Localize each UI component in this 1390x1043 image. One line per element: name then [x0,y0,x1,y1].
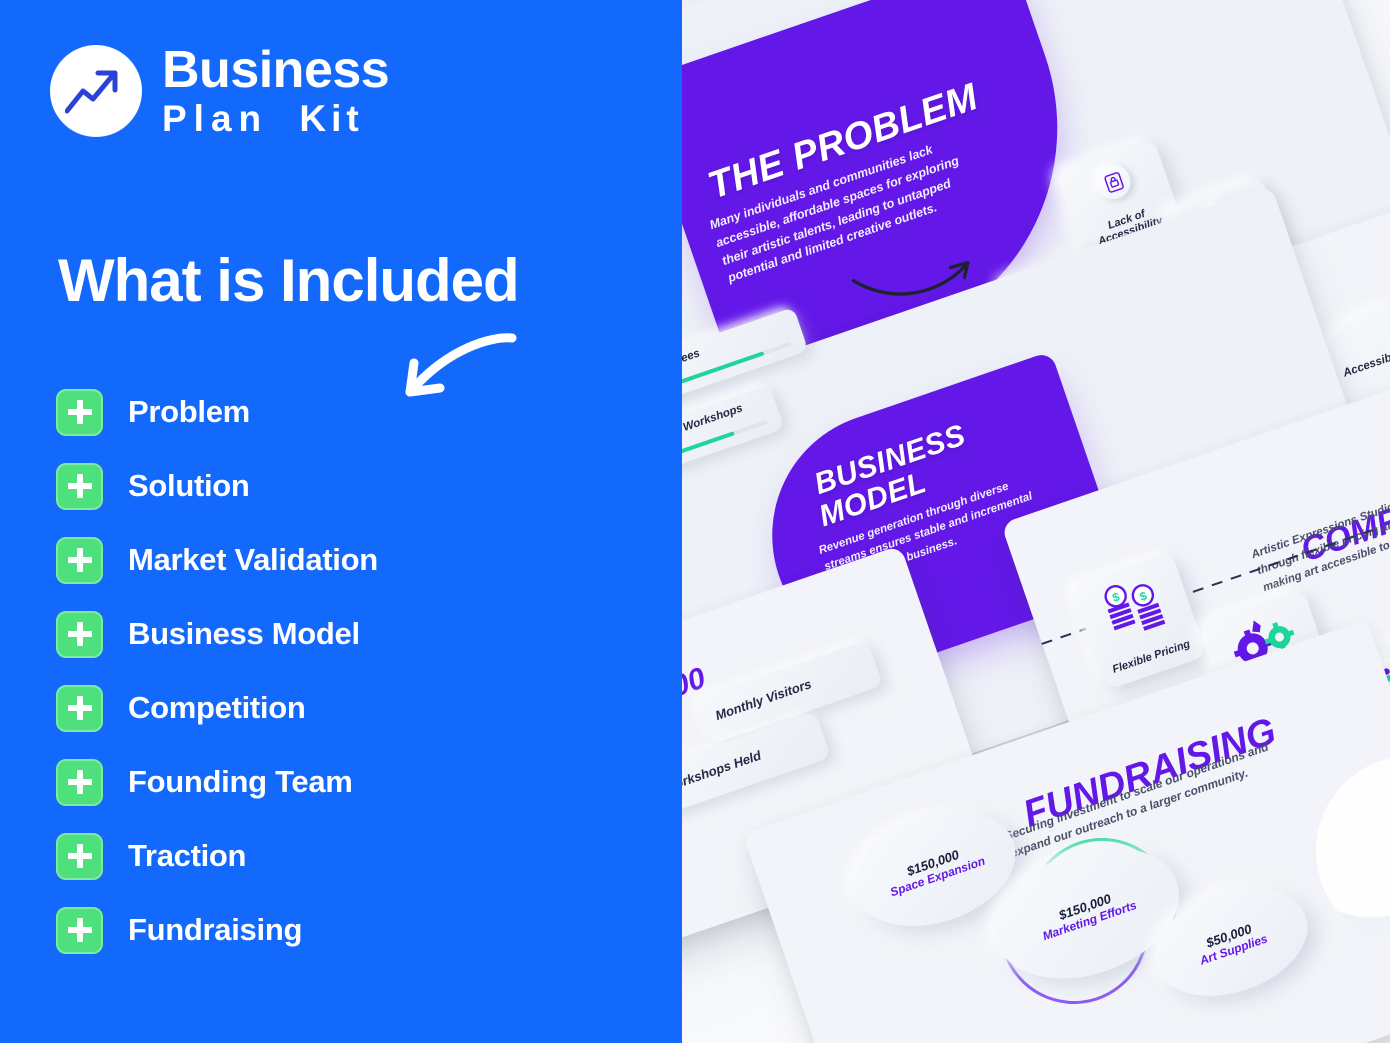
growth-chart-arrow-icon [65,65,127,117]
list-item[interactable]: Market Validation [56,534,378,586]
plus-icon [56,685,103,732]
list-item-label: Traction [128,838,246,874]
plus-icon [56,463,103,510]
list-item[interactable]: Solution [56,460,378,512]
logo-wordmark: Business Plan Kit [162,44,389,137]
lock-document-icon [1092,160,1135,203]
list-item[interactable]: Fundraising [56,904,378,956]
plus-icon [56,759,103,806]
plus-icon [56,389,103,436]
list-item[interactable]: Competition [56,682,378,734]
list-item-label: Business Model [128,616,360,652]
plus-icon [56,611,103,658]
list-item-label: Founding Team [128,764,353,800]
list-item[interactable]: Founding Team [56,756,378,808]
logo-word-plan: Plan [162,98,268,139]
included-items-list: Problem Solution Market Validation Busin… [56,386,378,978]
plus-icon [56,537,103,584]
page-title: What is Included [58,246,519,315]
logo-line-2: Plan Kit [162,100,389,137]
logo-line-1: Business [162,44,389,96]
solution-card-label: Accessible Spaces [1342,335,1390,382]
list-item[interactable]: Traction [56,830,378,882]
list-item-label: Fundraising [128,912,302,948]
list-item-label: Solution [128,468,250,504]
money-stack-icon: $ $ [1095,570,1176,650]
plus-icon [56,907,103,954]
list-item[interactable]: Problem [56,386,378,438]
left-info-panel: Business Plan Kit What is Included Probl… [0,0,682,1043]
list-item[interactable]: Business Model [56,608,378,660]
list-item-label: Problem [128,394,250,430]
brand-logo: Business Plan Kit [50,44,389,137]
poster-canvas: THE PROBLEM Many individuals and communi… [0,0,1390,1043]
list-item-label: Market Validation [128,542,378,578]
logo-mark [50,45,142,137]
list-item-label: Competition [128,690,306,726]
logo-word-kit: Kit [299,98,363,139]
curved-arrow-down-left-icon [388,330,518,410]
plus-icon [56,833,103,880]
